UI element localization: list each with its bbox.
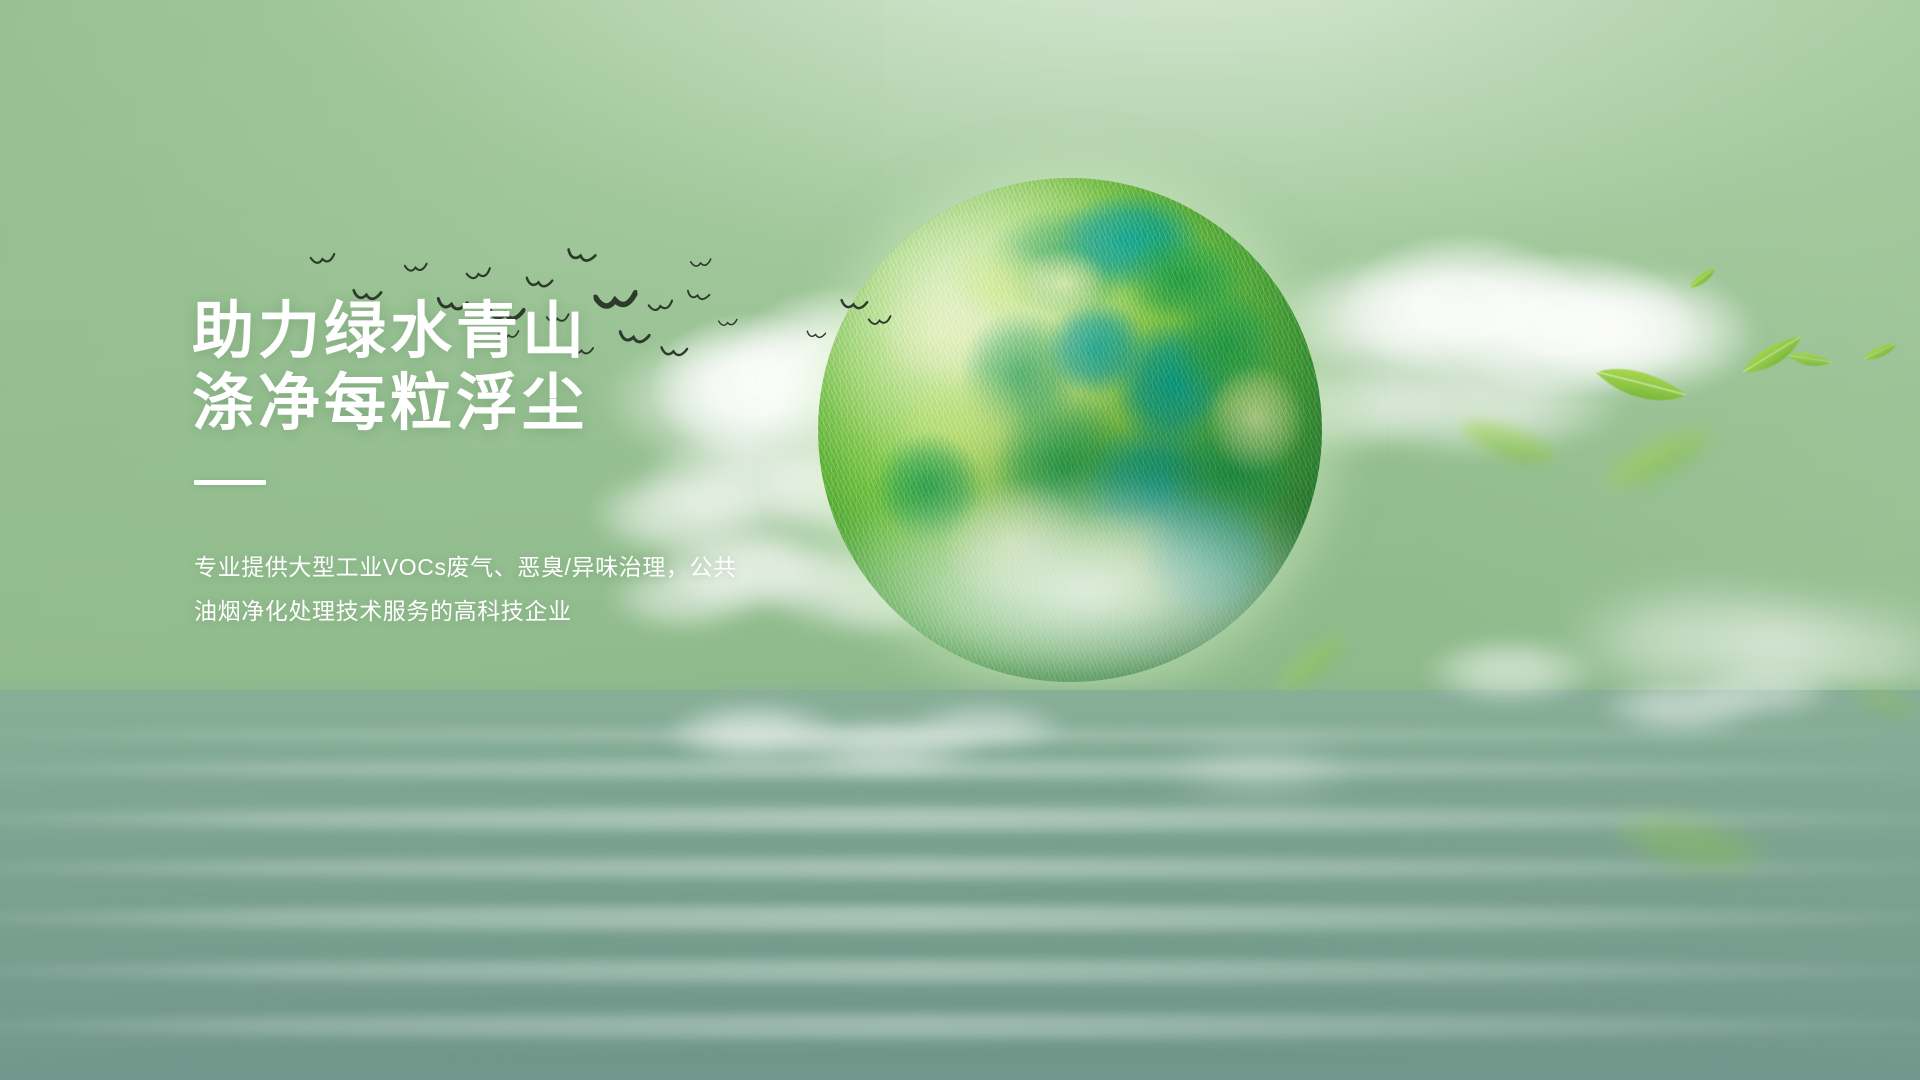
hero-subtitle: 专业提供大型工业VOCs废气、恶臭/异味治理，公共油烟净化处理技术服务的高科技企…: [194, 545, 754, 633]
cloud: [1420, 636, 1600, 706]
bird-icon: [689, 257, 712, 270]
water-ripple: [0, 906, 1920, 930]
water-ripple: [0, 1014, 1920, 1038]
water-ripple: [0, 858, 1920, 878]
water-ripple: [0, 886, 1920, 902]
cloud: [1160, 740, 1360, 800]
cloud: [1688, 664, 1838, 720]
water-ripple: [0, 960, 1920, 982]
page-title-line1: 助力绿水青山: [192, 296, 932, 368]
title-divider: [194, 480, 266, 485]
hero-banner: 助力绿水青山 涤净每粒浮尘 专业提供大型工业VOCs废气、恶臭/异味治理，公共油…: [0, 0, 1920, 1080]
page-title-line2: 涤净每粒浮尘: [192, 368, 932, 440]
cloud: [900, 700, 1070, 754]
water-ripple: [0, 940, 1920, 954]
hero-copy: 助力绿水青山 涤净每粒浮尘 专业提供大型工业VOCs废气、恶臭/异味治理，公共油…: [192, 296, 932, 633]
water-ripple: [0, 1048, 1920, 1066]
water-ripple: [0, 994, 1920, 1010]
bird-icon: [404, 261, 429, 275]
